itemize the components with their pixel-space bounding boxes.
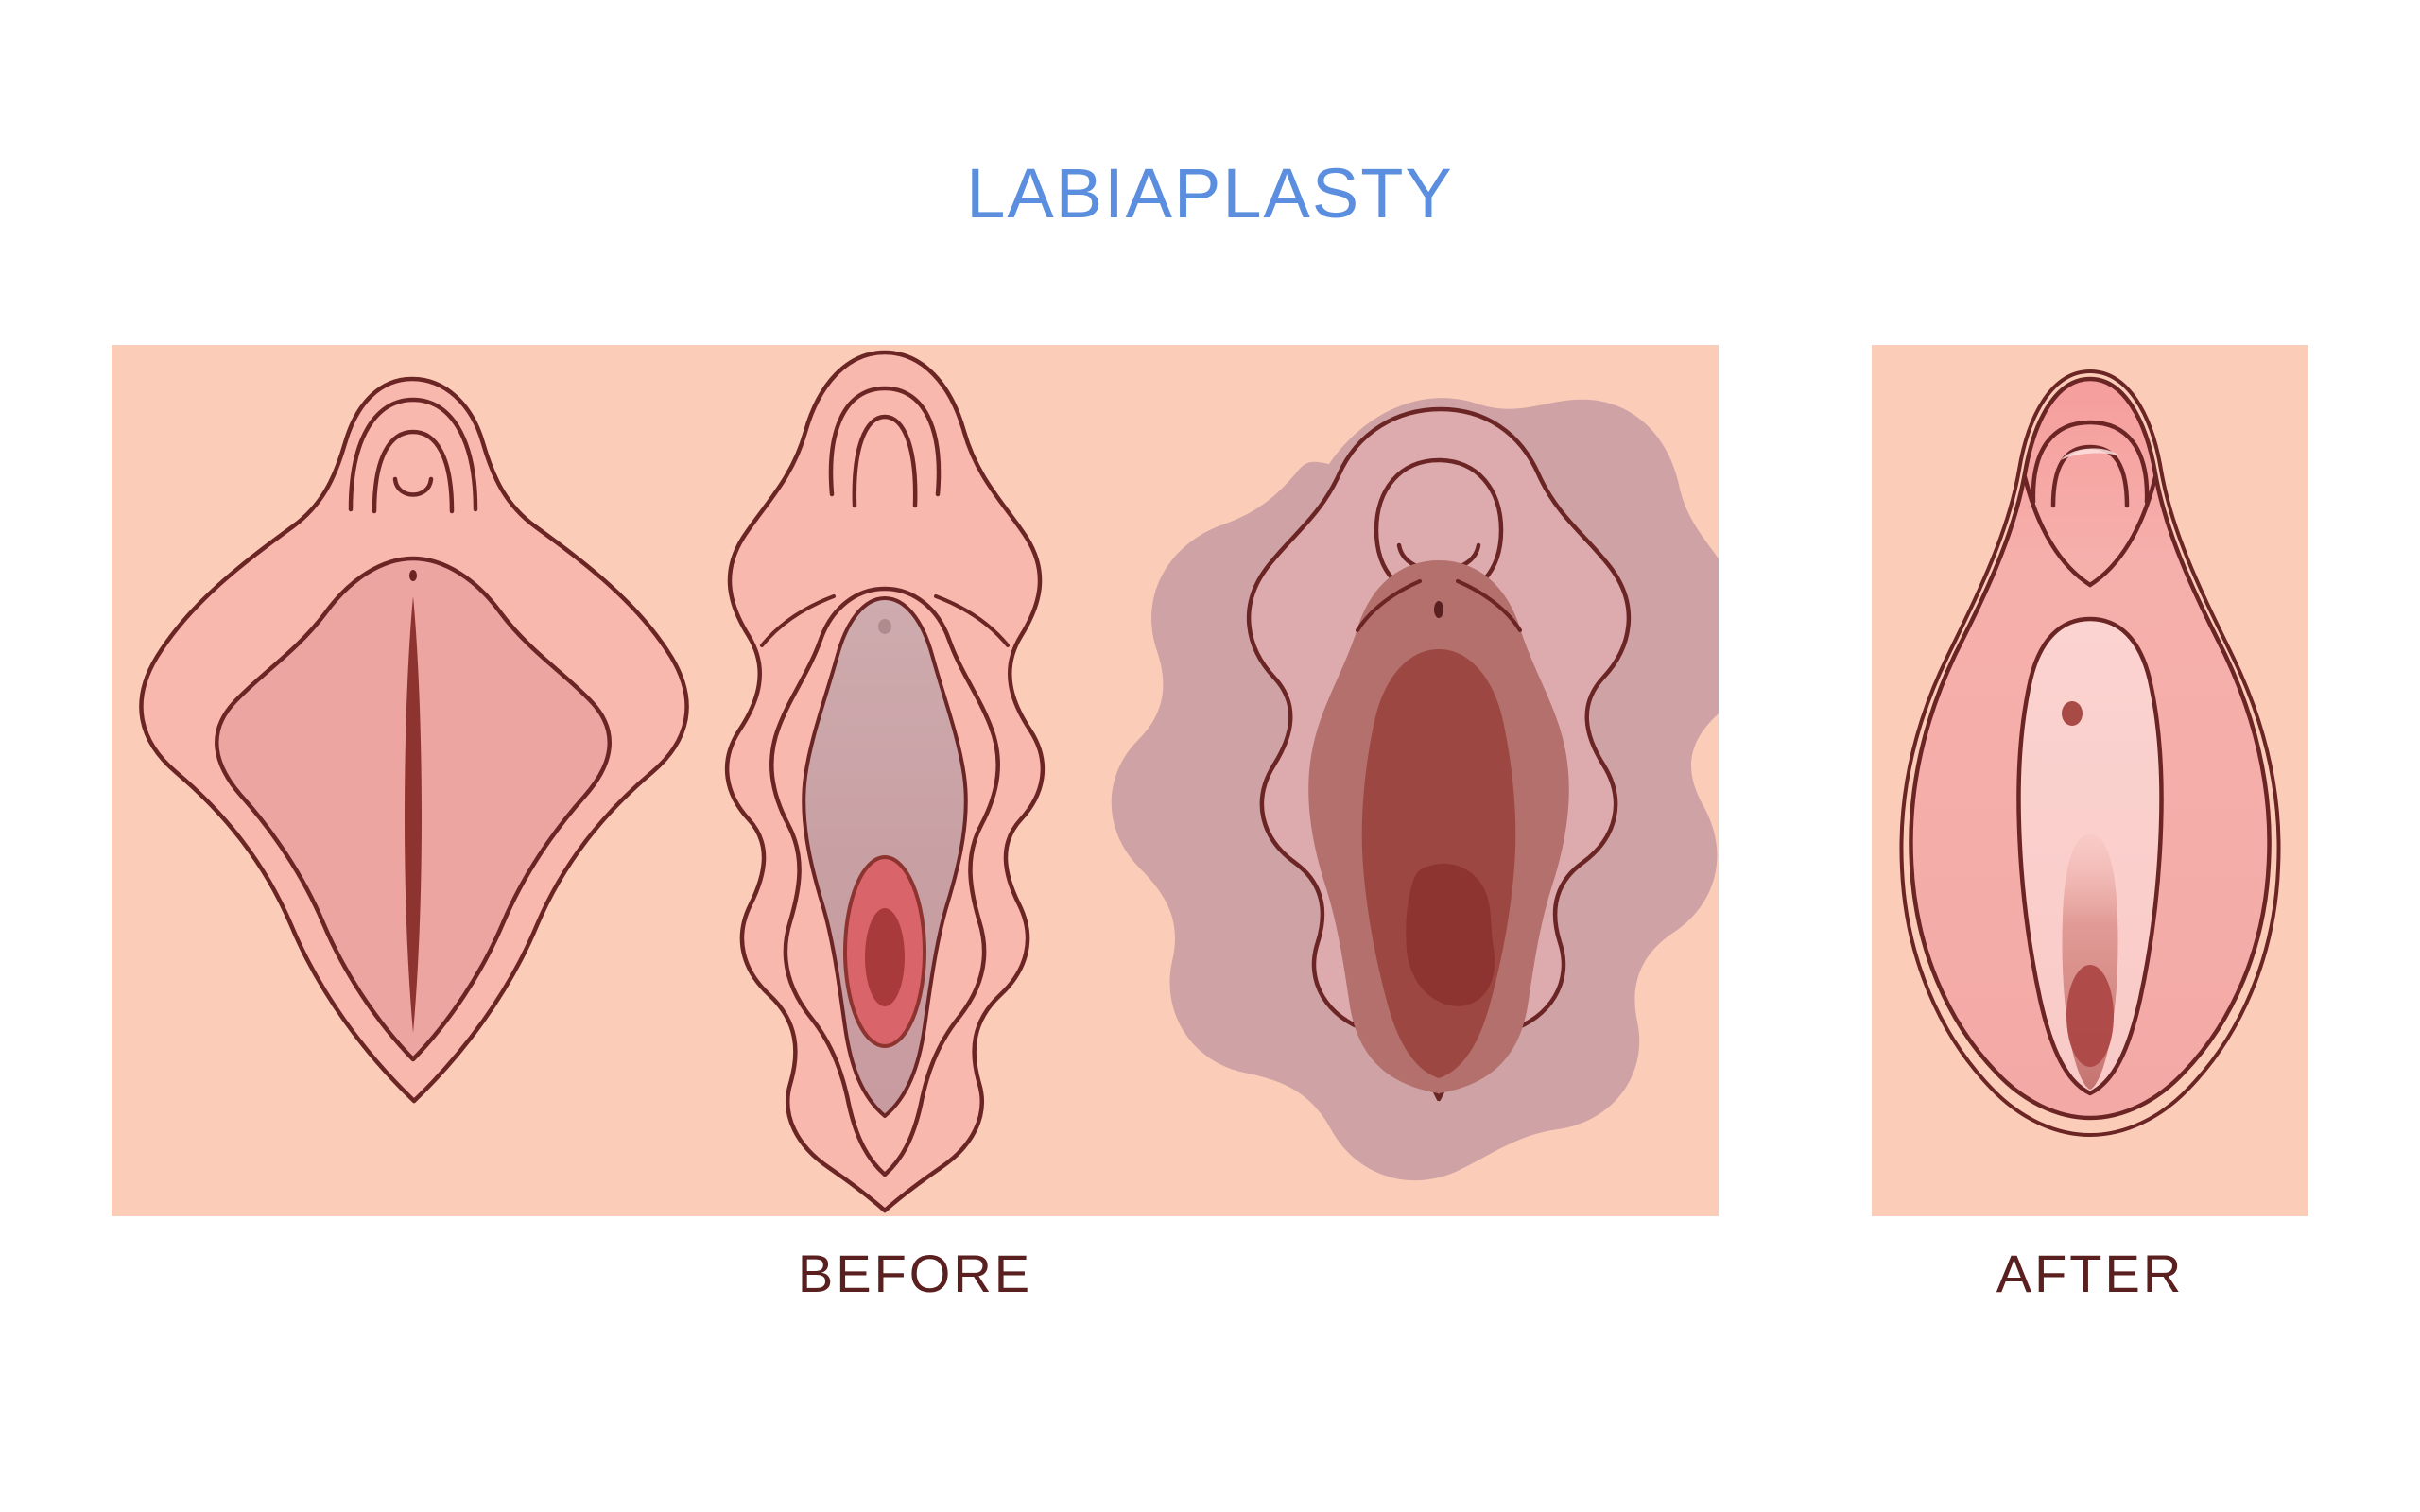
figure-3-urethral-dot	[1434, 601, 1443, 618]
figure-2-group	[727, 352, 1043, 1211]
after-figure-svg	[1872, 345, 2308, 1216]
figure-4-group	[1901, 371, 2278, 1135]
caption-before: BEFORE	[112, 1247, 1719, 1300]
figure-2-vaginal-opening-core	[865, 908, 905, 1006]
illustration-canvas: LABIAPLASTY	[0, 0, 2420, 1512]
page-title: LABIAPLASTY	[0, 159, 2420, 229]
caption-after: AFTER	[1872, 1247, 2308, 1300]
figure-3-vaginal-opening	[1406, 864, 1495, 1006]
figure-1-urethral-dot	[409, 570, 417, 581]
before-figures-svg	[112, 345, 1719, 1216]
figure-4-vaginal-opening-core	[2066, 965, 2114, 1067]
before-panel	[112, 345, 1719, 1216]
figure-3-group	[1112, 398, 1719, 1180]
figure-2-urethral-dot	[878, 619, 891, 634]
figure-4-urethral-dot	[2062, 701, 2083, 726]
after-panel	[1872, 345, 2308, 1216]
figure-1-group	[141, 379, 686, 1101]
